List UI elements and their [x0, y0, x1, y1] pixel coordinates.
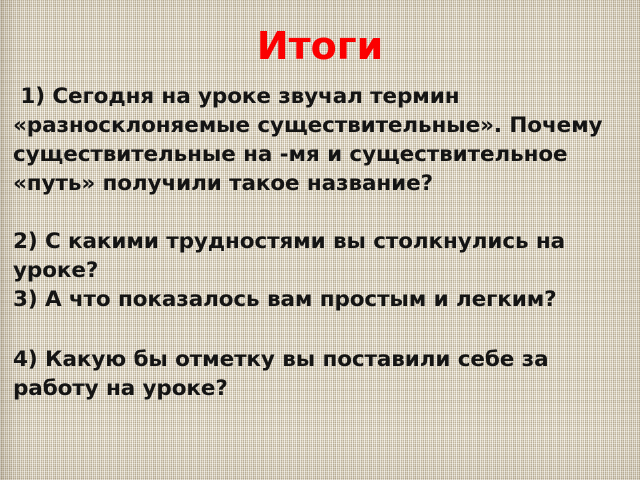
paragraph-spacer — [13, 198, 629, 227]
page-title: Итоги — [0, 24, 640, 68]
slide-canvas: Итоги 1) Сегодня на уроке звучал термин … — [0, 0, 640, 480]
list-item: 4) Какую бы отметку вы поставили себе за… — [13, 345, 629, 403]
list-item: 1) Сегодня на уроке звучал термин «разно… — [13, 82, 629, 198]
list-item: 2) С какими трудностями вы столкнулись н… — [13, 227, 629, 285]
list-item: 3) А что показалось вам простым и легким… — [13, 285, 629, 314]
slide-content: Итоги 1) Сегодня на уроке звучал термин … — [0, 0, 640, 480]
paragraph-spacer — [13, 314, 629, 345]
question-list: 1) Сегодня на уроке звучал термин «разно… — [13, 82, 629, 403]
